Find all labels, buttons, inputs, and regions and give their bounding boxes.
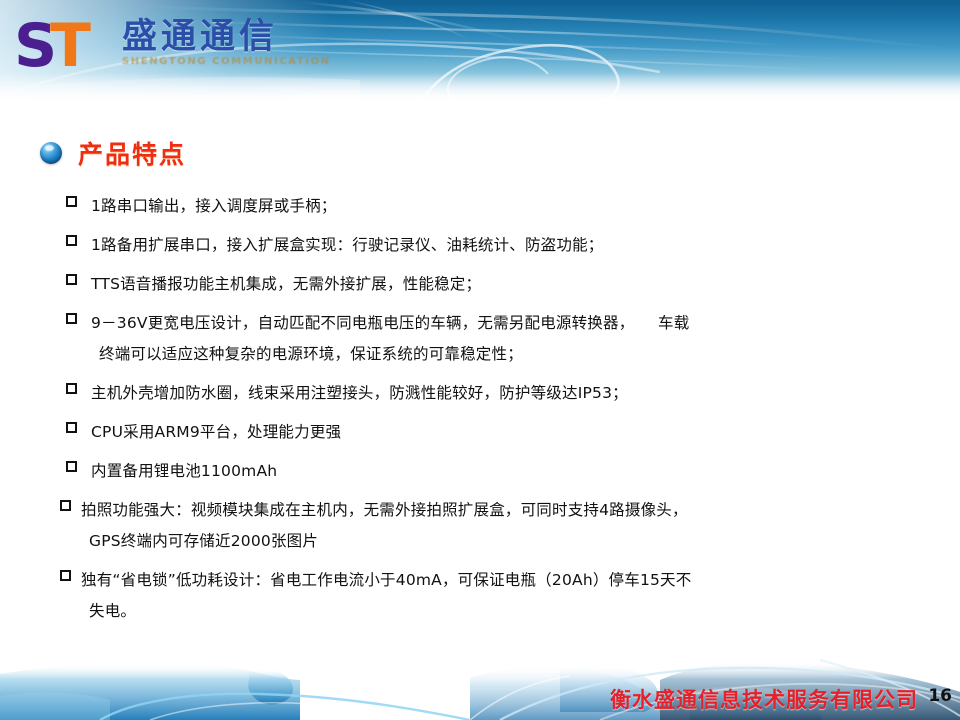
- list-item-text: 1路备用扩展串口，接入扩展盒实现：行驶记录仪、油耗统计、防盗功能；: [91, 230, 603, 261]
- company-logo: S T 盛通通信 SHENGTONG COMMUNICATION: [16, 14, 331, 76]
- list-item: 内置备用锂电池1100mAh: [0, 456, 960, 487]
- square-bullet-icon: [66, 274, 77, 285]
- blue-sphere-bullet-icon: [40, 142, 62, 164]
- list-item-text: TTS语音播报功能主机集成，无需外接扩展，性能稳定；: [91, 269, 481, 300]
- list-item-text: 拍照功能强大：视频模块集成在主机内，无需外接拍照扩展盒，可同时支持4路摄像头，: [81, 501, 688, 519]
- list-item-text: 9－36V更宽电压设计，自动匹配不同电瓶电压的车辆，无需另配电源转换器， 车载: [91, 314, 689, 332]
- list-item-text: 主机外壳增加防水圈，线束采用注塑接头，防溅性能较好，防护等级达IP53；: [91, 378, 628, 409]
- square-bullet-icon: [66, 461, 77, 472]
- list-item: 拍照功能强大：视频模块集成在主机内，无需外接拍照扩展盒，可同时支持4路摄像头，G…: [0, 495, 960, 557]
- list-item-text: 独有“省电锁”低功耗设计：省电工作电流小于40mA，可保证电瓶（20Ah）停车1…: [81, 571, 691, 589]
- list-item: 9－36V更宽电压设计，自动匹配不同电瓶电压的车辆，无需另配电源转换器， 车载终…: [0, 308, 960, 370]
- logo-wordmark: 盛通通信 SHENGTONG COMMUNICATION: [122, 14, 331, 67]
- square-bullet-icon: [66, 313, 77, 324]
- footer-company-name: 衡水盛通信息技术服务有限公司: [610, 684, 918, 714]
- banner-bottom-fade: [0, 73, 960, 103]
- slide-content: 产品特点 1路串口输出，接入调度屏或手柄； 1路备用扩展串口，接入扩展盒实现：行…: [0, 103, 960, 663]
- logo-monogram-st: S T: [16, 14, 112, 74]
- logo-letter-t: T: [50, 14, 91, 74]
- list-item-text: 1路串口输出，接入调度屏或手柄；: [91, 191, 337, 222]
- list-item: 主机外壳增加防水圈，线束采用注塑接头，防溅性能较好，防护等级达IP53；: [0, 378, 960, 409]
- square-bullet-icon: [66, 422, 77, 433]
- square-bullet-icon: [66, 235, 77, 246]
- list-item-text-wrapper: 拍照功能强大：视频模块集成在主机内，无需外接拍照扩展盒，可同时支持4路摄像头，G…: [81, 495, 688, 557]
- list-item-text: CPU采用ARM9平台，处理能力更强: [91, 417, 341, 448]
- square-bullet-icon: [60, 500, 71, 511]
- list-item-text-continuation: 终端可以适应这种复杂的电源环境，保证系统的可靠稳定性；: [99, 339, 689, 370]
- list-item: 1路备用扩展串口，接入扩展盒实现：行驶记录仪、油耗统计、防盗功能；: [0, 230, 960, 261]
- logo-company-name-cn: 盛通通信: [122, 16, 331, 58]
- list-item-text-continuation: GPS终端内可存储近2000张图片: [89, 526, 688, 557]
- square-bullet-icon: [60, 570, 71, 581]
- section-title-row: 产品特点: [40, 135, 186, 171]
- square-bullet-icon: [66, 383, 77, 394]
- list-item: CPU采用ARM9平台，处理能力更强: [0, 417, 960, 448]
- list-item: 1路串口输出，接入调度屏或手柄；: [0, 191, 960, 222]
- feature-bullet-list: 1路串口输出，接入调度屏或手柄； 1路备用扩展串口，接入扩展盒实现：行驶记录仪、…: [0, 191, 960, 635]
- logo-st-glyph: S T: [16, 14, 112, 74]
- presentation-slide: S T 盛通通信 SHENGTONG COMMUNICATION 产品特点 1路…: [0, 0, 960, 720]
- header-banner: S T 盛通通信 SHENGTONG COMMUNICATION: [0, 0, 960, 103]
- page-number: 16: [928, 686, 952, 706]
- square-bullet-icon: [66, 196, 77, 207]
- page-title: 产品特点: [78, 135, 186, 171]
- logo-company-name-en: SHENGTONG COMMUNICATION: [122, 56, 331, 67]
- list-item-text: 内置备用锂电池1100mAh: [91, 456, 277, 487]
- list-item: TTS语音播报功能主机集成，无需外接扩展，性能稳定；: [0, 269, 960, 300]
- list-item-text-wrapper: 9－36V更宽电压设计，自动匹配不同电瓶电压的车辆，无需另配电源转换器， 车载终…: [91, 308, 689, 370]
